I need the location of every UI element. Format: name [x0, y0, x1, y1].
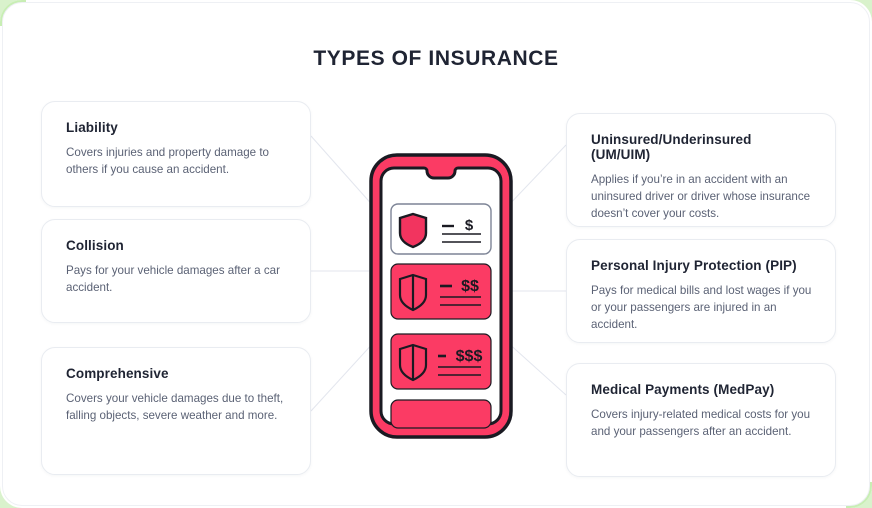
- connector-comprehensive: [311, 341, 375, 411]
- card-title: Comprehensive: [66, 366, 288, 381]
- card-liability[interactable]: Liability Covers injuries and property d…: [41, 101, 311, 207]
- card-medical-payments[interactable]: Medical Payments (MedPay) Covers injury-…: [566, 363, 836, 477]
- plan-price-label: $: [465, 217, 474, 234]
- card-uninsured-underinsured[interactable]: Uninsured/Underinsured (UM/UIM) Applies …: [566, 113, 836, 227]
- card-body: Applies if you’re in an accident with an…: [591, 171, 813, 222]
- plan-price-label: $$: [461, 278, 479, 295]
- card-comprehensive[interactable]: Comprehensive Covers your vehicle damage…: [41, 347, 311, 475]
- card-collision[interactable]: Collision Pays for your vehicle damages …: [41, 219, 311, 323]
- plan-card-standard[interactable]: $$: [391, 264, 491, 319]
- card-body: Pays for your vehicle damages after a ca…: [66, 262, 288, 296]
- card-body: Covers your vehicle damages due to theft…: [66, 390, 288, 424]
- home-indicator-bar[interactable]: [391, 400, 491, 428]
- card-body: Covers injuries and property damage to o…: [66, 144, 288, 178]
- card-title: Uninsured/Underinsured (UM/UIM): [591, 132, 813, 162]
- card-body: Covers injury-related medical costs for …: [591, 406, 813, 440]
- connector-liability: [311, 136, 375, 208]
- plan-card-premium[interactable]: $$$: [391, 334, 491, 389]
- card-title: Medical Payments (MedPay): [591, 382, 813, 397]
- plan-price-label: $$$: [456, 348, 483, 365]
- infographic-root: TYPES OF INSURANCE Liability Covers inju…: [0, 0, 872, 508]
- card-body: Pays for medical bills and lost wages if…: [591, 282, 813, 333]
- page-card: TYPES OF INSURANCE Liability Covers inju…: [2, 2, 870, 506]
- card-title: Collision: [66, 238, 288, 253]
- card-personal-injury-protection[interactable]: Personal Injury Protection (PIP) Pays fo…: [566, 239, 836, 343]
- page-title: TYPES OF INSURANCE: [3, 47, 869, 71]
- connector-medpay: [506, 341, 566, 395]
- card-title: Personal Injury Protection (PIP): [591, 258, 813, 273]
- card-title: Liability: [66, 120, 288, 135]
- plan-card-basic[interactable]: $: [391, 204, 491, 254]
- connector-uninsured: [506, 145, 566, 208]
- shield-filled-icon: [400, 214, 426, 247]
- phone-illustration: $ $$: [368, 152, 514, 440]
